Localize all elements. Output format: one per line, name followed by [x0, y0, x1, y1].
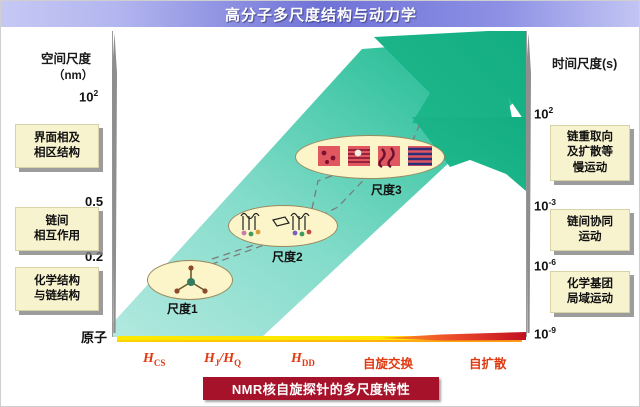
bottom-label-hj-hq: HJ/HQ: [204, 351, 241, 368]
hq-main: H: [223, 351, 234, 366]
bottom-red-gradient-arrow: [381, 331, 526, 345]
diagram-canvas: 高分子多尺度结构与动力学: [0, 0, 640, 407]
right-box-0-line-2: 慢运动: [573, 161, 608, 176]
right-tick-1-exp: -3: [548, 197, 556, 207]
right-tick-0-exp: 2: [548, 105, 553, 115]
left-box-1-line-1: 相互作用: [34, 229, 80, 244]
left-axis-tick-1e2: 102: [79, 88, 98, 104]
scale-1-label: 尺度1: [167, 300, 198, 317]
right-info-box-chain-reorientation[interactable]: 链重取向 及扩散等 慢运动: [550, 125, 630, 181]
phase-morphology-cubes-icon: [296, 136, 446, 180]
left-box-1-line-0: 链间: [46, 214, 69, 229]
right-axis-caption: 时间尺度(s): [552, 53, 617, 72]
right-box-2-line-0: 化学基团: [567, 277, 613, 292]
hcs-main: H: [143, 351, 154, 366]
right-box-0-line-1: 及扩散等: [567, 145, 613, 160]
right-info-box-cooperative-motion[interactable]: 链间协同 运动: [550, 209, 630, 251]
scale-3-ellipse[interactable]: [295, 135, 445, 179]
right-tick-3-exp: -9: [548, 325, 556, 335]
scale-3-label: 尺度3: [371, 181, 402, 198]
hdd-main: H: [291, 351, 302, 366]
left-axis-tick-02: 0.2: [85, 249, 103, 264]
right-axis-tick-1e-9: 10-9: [534, 325, 556, 341]
hdd-sub: DD: [302, 358, 315, 368]
left-box-0-line-0: 界面相及: [34, 131, 80, 146]
page-title: 高分子多尺度结构与动力学: [1, 1, 640, 27]
hj-main: H: [204, 351, 215, 366]
left-info-box-chemical-structure[interactable]: 化学结构 与链结构: [15, 267, 99, 311]
left-axis-caption-line2: （nm）: [53, 67, 93, 83]
right-tick-2-base: 10: [534, 258, 548, 273]
bottom-label-hdd: HDD: [291, 351, 315, 368]
left-axis-caption-line1: 空间尺度: [41, 48, 91, 67]
left-box-2-line-0: 化学结构: [34, 274, 80, 289]
hq-sub: Q: [234, 358, 241, 368]
right-box-0-line-0: 链重取向: [567, 130, 613, 145]
bottom-label-self-diffusion: 自扩散: [469, 353, 507, 372]
right-axis-spear: [524, 33, 533, 333]
title-bar: 高分子多尺度结构与动力学: [1, 1, 640, 27]
right-box-2-line-1: 局域运动: [567, 292, 613, 307]
right-tick-2-exp: -6: [548, 257, 556, 267]
scale-2-ellipse[interactable]: [228, 205, 338, 247]
right-box-1-line-0: 链间协同: [567, 215, 613, 230]
hcs-sub: CS: [154, 358, 166, 368]
left-info-box-interchain-interaction[interactable]: 链间 相互作用: [15, 207, 99, 251]
right-tick-1-base: 10: [534, 198, 548, 213]
scale-2-label: 尺度2: [272, 248, 303, 265]
polymer-chain-segments-icon: [229, 206, 339, 248]
left-axis-tick-atom: 原子: [81, 327, 107, 346]
left-tick-base: 10: [79, 89, 93, 104]
right-tick-0-base: 10: [534, 106, 548, 121]
right-info-box-local-group-motion[interactable]: 化学基团 局域运动: [550, 271, 630, 313]
left-box-0-line-1: 相区结构: [34, 146, 80, 161]
bottom-label-spin-exchange: 自旋交换: [363, 353, 413, 372]
bottom-label-hcs: HCS: [143, 351, 165, 368]
scale-1-ellipse[interactable]: [147, 260, 233, 300]
right-axis-tick-1e2: 102: [534, 105, 553, 121]
left-tick-exp: 2: [93, 88, 98, 98]
left-box-2-line-1: 与链结构: [34, 289, 80, 304]
methyl-group-icon: [148, 261, 234, 301]
bottom-banner: NMR核自旋探针的多尺度特性: [203, 377, 439, 400]
right-box-1-line-1: 运动: [579, 230, 602, 245]
left-axis-spear: [110, 33, 119, 333]
left-info-box-interface-phase[interactable]: 界面相及 相区结构: [15, 124, 99, 168]
right-tick-3-base: 10: [534, 326, 548, 341]
